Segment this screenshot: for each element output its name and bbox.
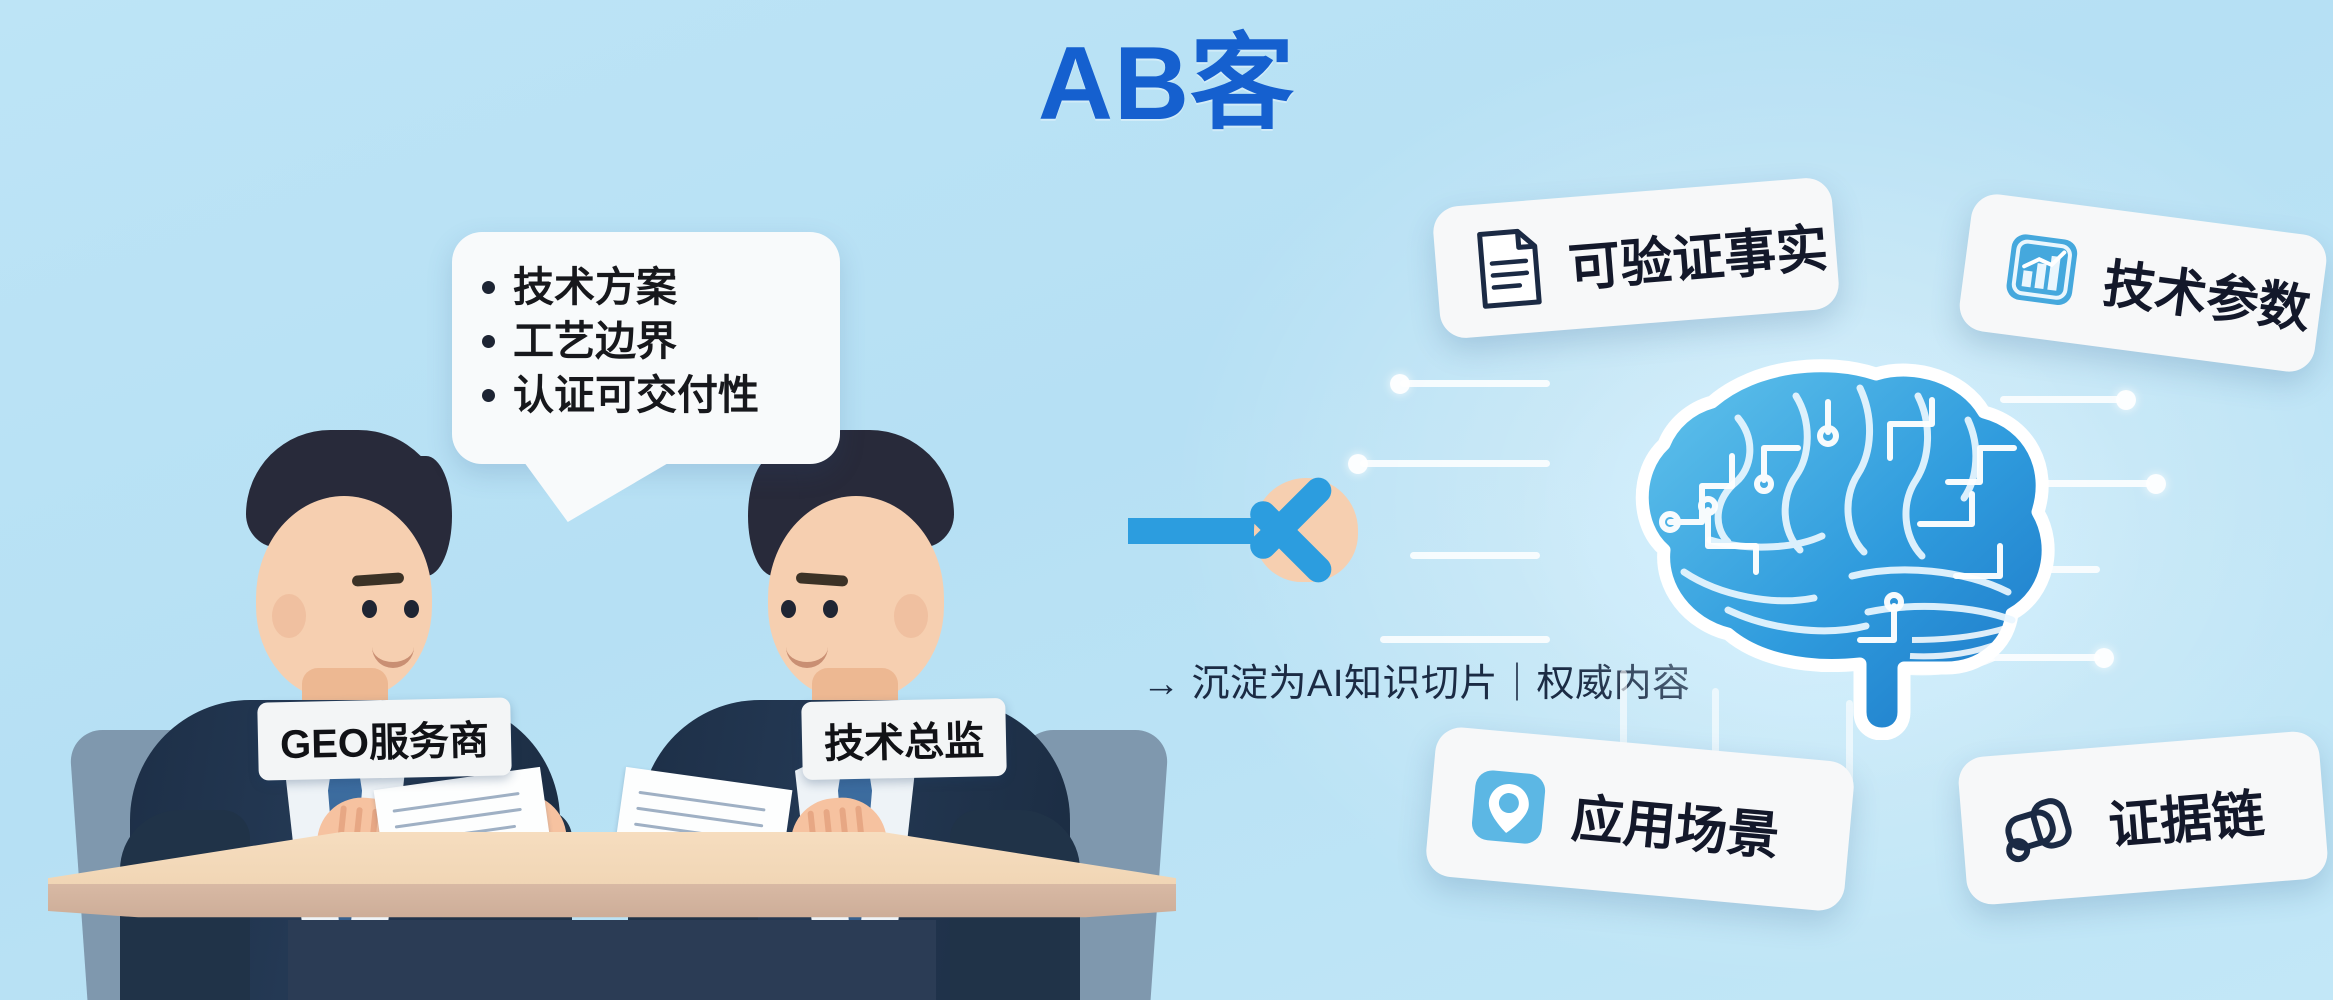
circuit-trace xyxy=(1410,552,1540,559)
ear xyxy=(272,594,306,638)
circuit-trace xyxy=(1380,636,1550,643)
speech-bubble-list: 技术方案 工艺边界 认证可交付性 xyxy=(482,260,814,422)
brain-icon xyxy=(1560,340,2080,740)
name-tag-tech-director: 技术总监 xyxy=(801,698,1007,780)
name-tag-geo-provider: GEO服务商 xyxy=(257,697,511,780)
circuit-trace xyxy=(1400,380,1550,387)
list-item: 工艺边界 xyxy=(482,314,814,368)
eye xyxy=(781,600,796,618)
eyebrow xyxy=(796,572,849,587)
eye xyxy=(362,600,377,618)
circuit-node-icon xyxy=(2146,474,2166,494)
document-icon xyxy=(1473,226,1545,311)
circuit-node-icon xyxy=(2116,390,2136,410)
bubble-item-label: 认证可交付性 xyxy=(513,368,759,422)
circuit-node-icon xyxy=(2094,648,2114,668)
flow-arrow-icon xyxy=(1128,478,1418,582)
circuit-node-icon xyxy=(1390,374,1410,394)
bar-chart-icon xyxy=(2000,228,2083,311)
poster-canvas: AB客 xyxy=(0,0,2333,1000)
mouth xyxy=(372,646,414,668)
feature-card-label: 可验证事实 xyxy=(1565,205,1830,301)
feature-card-label: 应用场景 xyxy=(1569,775,1783,869)
eye xyxy=(404,600,419,618)
feature-card-label: 证据链 xyxy=(2105,771,2267,858)
feature-card-label: 技术参数 xyxy=(2099,241,2315,343)
speech-bubble: 技术方案 工艺边界 认证可交付性 xyxy=(452,232,840,464)
list-item: 认证可交付性 xyxy=(482,368,814,422)
arrow-head xyxy=(1254,478,1358,582)
eyebrow xyxy=(352,572,405,587)
circuit-trace xyxy=(1360,460,1550,467)
mouth xyxy=(786,646,828,668)
bullet-icon xyxy=(482,281,495,294)
eye xyxy=(823,600,838,618)
bubble-item-label: 工艺边界 xyxy=(513,314,677,368)
circuit-node-icon xyxy=(1348,454,1368,474)
ear xyxy=(894,594,928,638)
bullet-icon xyxy=(482,389,495,402)
chain-link-icon xyxy=(2000,787,2086,865)
page-title: AB客 xyxy=(0,32,2333,136)
feature-card-evidence-chain[interactable]: 证据链 xyxy=(1957,730,2330,907)
brand-title: AB客 xyxy=(1038,32,1295,136)
bubble-item-label: 技术方案 xyxy=(513,260,677,314)
list-item: 技术方案 xyxy=(482,260,814,314)
table-shadow xyxy=(288,920,936,1000)
meeting-table xyxy=(48,832,1176,1000)
bullet-icon xyxy=(482,335,495,348)
ai-brain-graphic xyxy=(1560,340,2080,740)
map-pin-icon xyxy=(1467,766,1550,849)
